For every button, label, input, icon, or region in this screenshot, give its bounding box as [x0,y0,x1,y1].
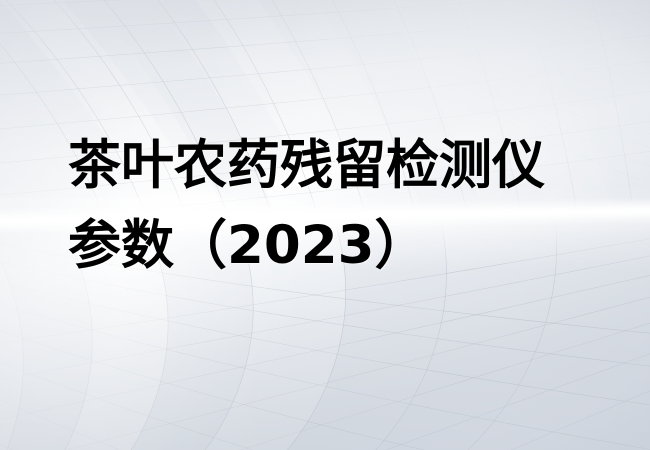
banner-title-line-1: 茶叶农药残留检测仪 [68,126,628,206]
banner-title-line-2: 参数（2023） [68,206,628,286]
banner-title: 茶叶农药残留检测仪 参数（2023） [68,126,628,286]
banner-image: 茶叶农药残留检测仪 参数（2023） [0,0,650,450]
